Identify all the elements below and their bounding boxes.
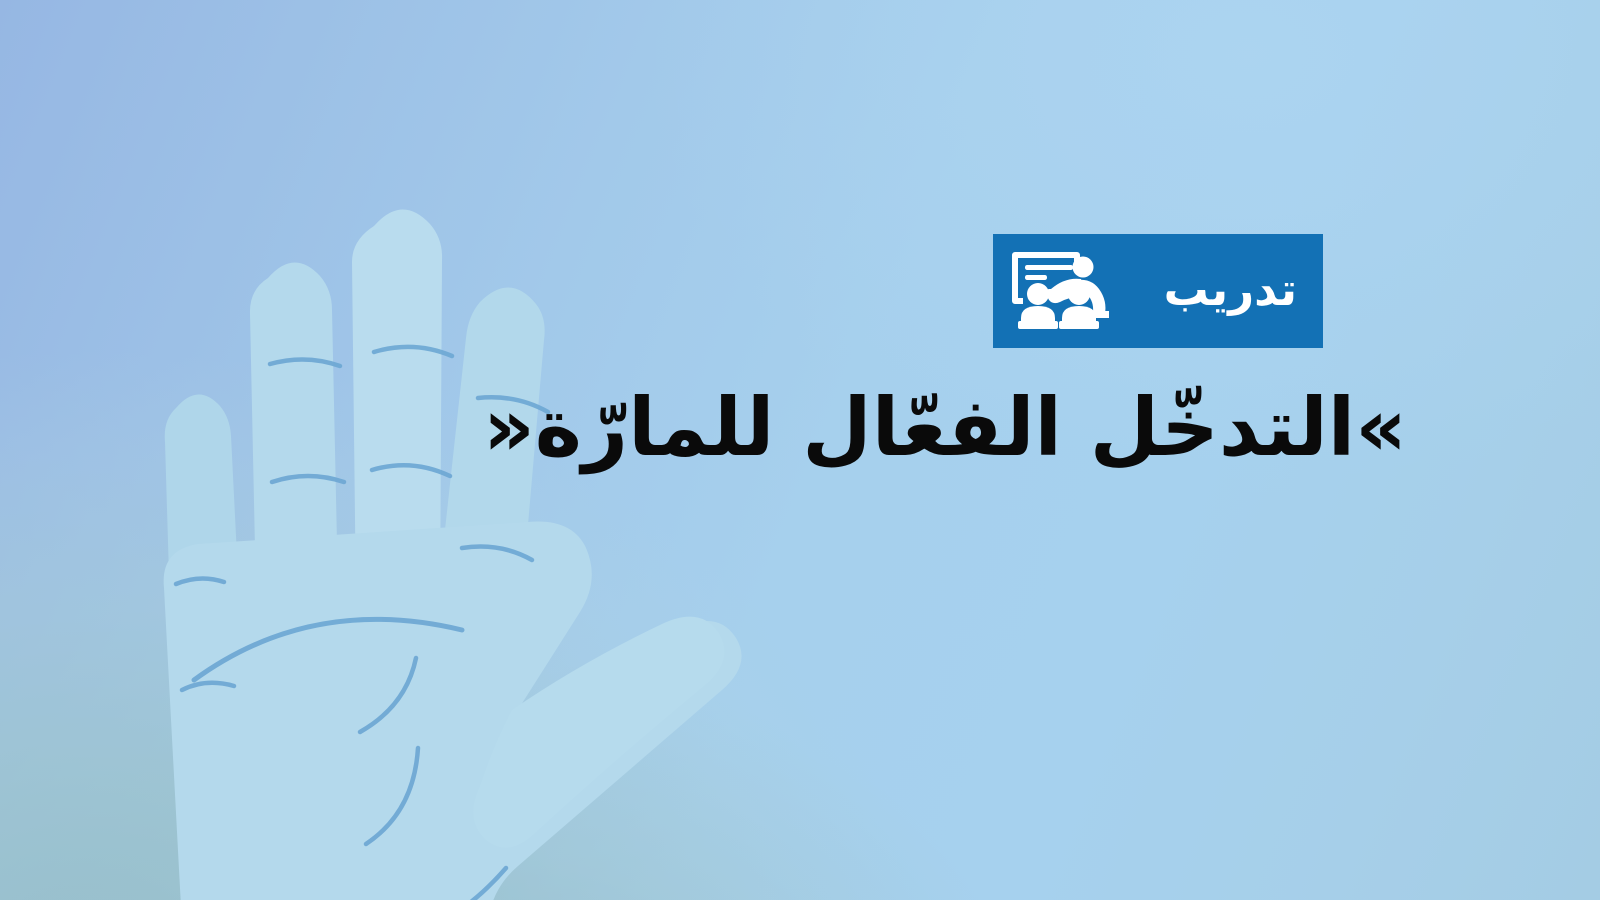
training-banner: تدريب — [0, 0, 1600, 900]
badge-label: تدريب — [1164, 267, 1297, 312]
open-hand-illustration — [120, 118, 800, 900]
page-title: »التدخّل الفعّال للمارّة« — [0, 382, 1600, 475]
training-presentation-icon — [1007, 249, 1111, 333]
training-badge: تدريب — [993, 234, 1323, 348]
hand-shape-group — [164, 209, 742, 900]
